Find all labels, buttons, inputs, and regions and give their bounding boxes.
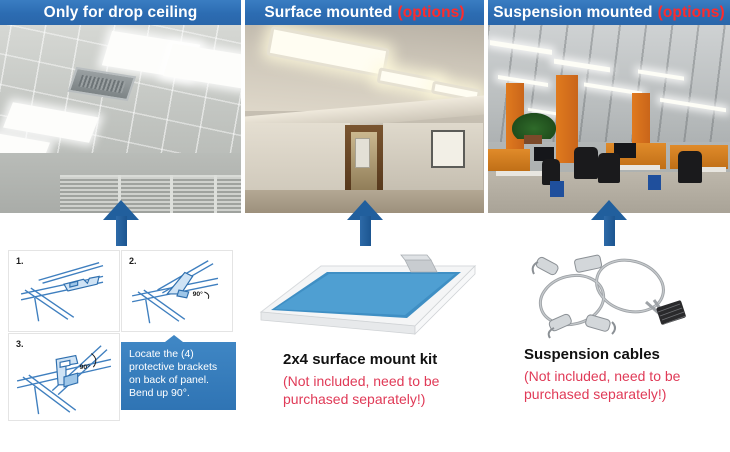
diagram-step-1: 1. xyxy=(8,250,120,332)
up-arrow-icon xyxy=(347,200,383,246)
water-heater xyxy=(355,138,370,168)
header-options-surface-mounted: (options) xyxy=(397,4,464,22)
up-arrow-icon xyxy=(591,200,627,246)
product-note-cables-line1: (Not included, need to be xyxy=(524,367,730,385)
recycle-bin xyxy=(648,175,661,190)
cubicle-partition xyxy=(488,149,530,171)
photo-suspension-mounted xyxy=(488,25,730,213)
product-title-kit: 2x4 surface mount kit xyxy=(283,350,513,370)
office-chair xyxy=(574,147,598,179)
header-label-surface-mounted: Surface mounted xyxy=(264,4,392,22)
product-note-kit-line2: purchased separately!) xyxy=(283,390,513,408)
photo-surface-mounted xyxy=(245,25,484,213)
column-surface-mounted: Surface mounted (options) xyxy=(245,0,484,213)
step-2-illustration: 90° xyxy=(122,251,232,331)
step-3-illustration: 90° xyxy=(9,334,119,420)
photo-drop-ceiling xyxy=(0,25,241,213)
column-drop-ceiling: Only for drop ceiling xyxy=(0,0,241,213)
up-arrow-icon xyxy=(103,200,139,246)
callout-text: Locate the (4) protective brackets on ba… xyxy=(129,348,217,399)
caption-surface-mount-kit: 2x4 surface mount kit (Not included, nee… xyxy=(283,350,513,408)
step-1-illustration xyxy=(9,251,119,331)
plant-pot xyxy=(524,135,542,144)
diagram-step-3: 3. 90° xyxy=(8,333,120,421)
window-mullion xyxy=(170,175,173,213)
angle-label: 90° xyxy=(80,363,91,371)
office-chair xyxy=(598,153,620,183)
caption-suspension-cables: Suspension cables (Not included, need to… xyxy=(524,345,730,403)
header-suspension-mounted: Suspension mounted (options) xyxy=(488,0,730,25)
column-suspension-mounted: Suspension mounted (options) xyxy=(488,0,730,213)
header-label-suspension-mounted: Suspension mounted xyxy=(493,4,652,22)
arrow-shaft xyxy=(360,216,371,246)
bracket-callout-box: Locate the (4) protective brackets on ba… xyxy=(121,342,236,410)
diagram-step-2: 2. 90° xyxy=(121,250,233,332)
header-drop-ceiling: Only for drop ceiling xyxy=(0,0,241,25)
surface-mount-kit-image xyxy=(255,250,481,342)
interior-window xyxy=(431,130,465,168)
product-title-cables: Suspension cables xyxy=(524,345,730,365)
header-options-suspension-mounted: (options) xyxy=(658,4,725,22)
header-label-drop-ceiling: Only for drop ceiling xyxy=(44,4,198,22)
kit-illustration xyxy=(255,250,481,342)
bracket-instruction-diagram: 1. 2. xyxy=(8,250,236,422)
callout-pointer xyxy=(165,335,183,342)
office-chair xyxy=(678,151,702,183)
suspension-cables-image xyxy=(520,242,710,342)
angle-label: 90° xyxy=(193,290,204,298)
product-note-cables-line2: purchased separately!) xyxy=(524,385,730,403)
product-note-kit-line1: (Not included, need to be xyxy=(283,372,513,390)
page-root: Only for drop ceiling Surface mounted (o… xyxy=(0,0,730,452)
arrow-shaft xyxy=(116,216,127,246)
recycle-bin xyxy=(550,181,564,197)
cables-illustration xyxy=(520,242,710,342)
window-mullion xyxy=(214,175,217,213)
header-surface-mounted: Surface mounted (options) xyxy=(245,0,484,25)
